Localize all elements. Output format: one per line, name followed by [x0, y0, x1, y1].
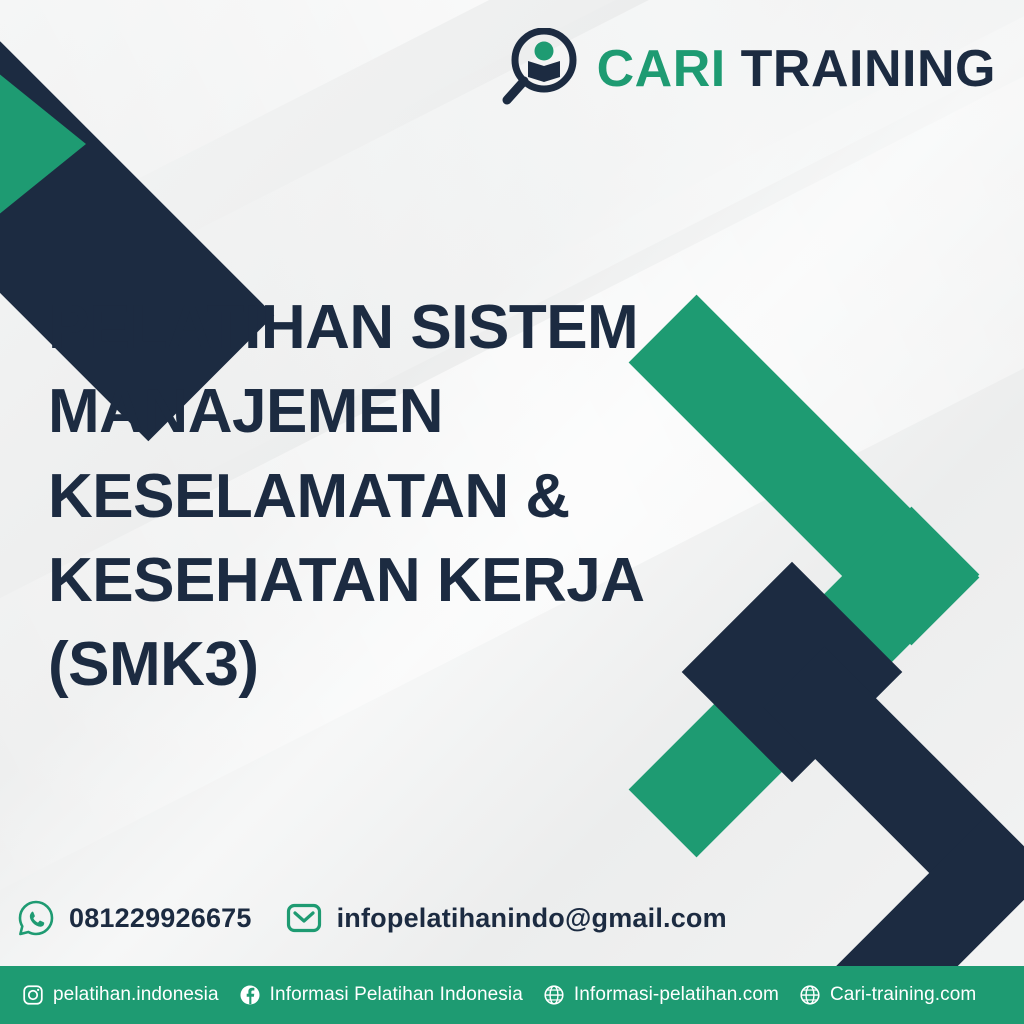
title-line-3: KESELAMATAN & [48, 455, 708, 539]
whatsapp-icon [16, 898, 56, 938]
contact-whatsapp[interactable]: 081229926675 [16, 898, 252, 938]
poster-canvas: CARI TRAINING PELATIHAN SISTEM MANAJEMEN… [0, 0, 1024, 1024]
page-title: PELATIHAN SISTEM MANAJEMEN KESELAMATAN &… [48, 286, 708, 708]
footer-facebook-text: Informasi Pelatihan Indonesia [270, 984, 523, 1006]
title-line-2: MANAJEMEN [48, 370, 708, 454]
footer-website-2-text: Cari-training.com [830, 984, 976, 1006]
title-line-4: KESEHATAN KERJA [48, 539, 708, 623]
green-triangle [0, 26, 86, 262]
globe-icon [799, 984, 821, 1006]
contact-email-text: infopelatihanindo@gmail.com [337, 903, 727, 934]
title-line-5: (SMK3) [48, 623, 708, 707]
contact-phone-text: 081229926675 [69, 903, 252, 934]
footer-facebook[interactable]: Informasi Pelatihan Indonesia [239, 984, 523, 1006]
magnifier-book-icon [499, 28, 579, 110]
contact-row: 081229926675 infopelatihanindo@gmail.com [16, 898, 727, 938]
instagram-icon [22, 984, 44, 1006]
brand-name-training: TRAINING [741, 40, 996, 98]
footer-website-1-text: Informasi-pelatihan.com [574, 984, 779, 1006]
brand-wordmark: CARI TRAINING [597, 43, 996, 95]
email-icon [284, 898, 324, 938]
facebook-icon [239, 984, 261, 1006]
globe-icon [543, 984, 565, 1006]
navy-chevron [854, 668, 1024, 968]
brand-name-cari: CARI [597, 40, 741, 98]
title-line-1: PELATIHAN SISTEM [48, 286, 708, 370]
footer-website-1[interactable]: Informasi-pelatihan.com [543, 984, 779, 1006]
footer-instagram[interactable]: pelatihan.indonesia [22, 984, 219, 1006]
brand-logo: CARI TRAINING [499, 28, 996, 110]
contact-email[interactable]: infopelatihanindo@gmail.com [284, 898, 727, 938]
footer-instagram-text: pelatihan.indonesia [53, 984, 219, 1006]
footer-website-2[interactable]: Cari-training.com [799, 984, 976, 1006]
footer-bar: pelatihan.indonesia Informasi Pelatihan … [0, 966, 1024, 1024]
